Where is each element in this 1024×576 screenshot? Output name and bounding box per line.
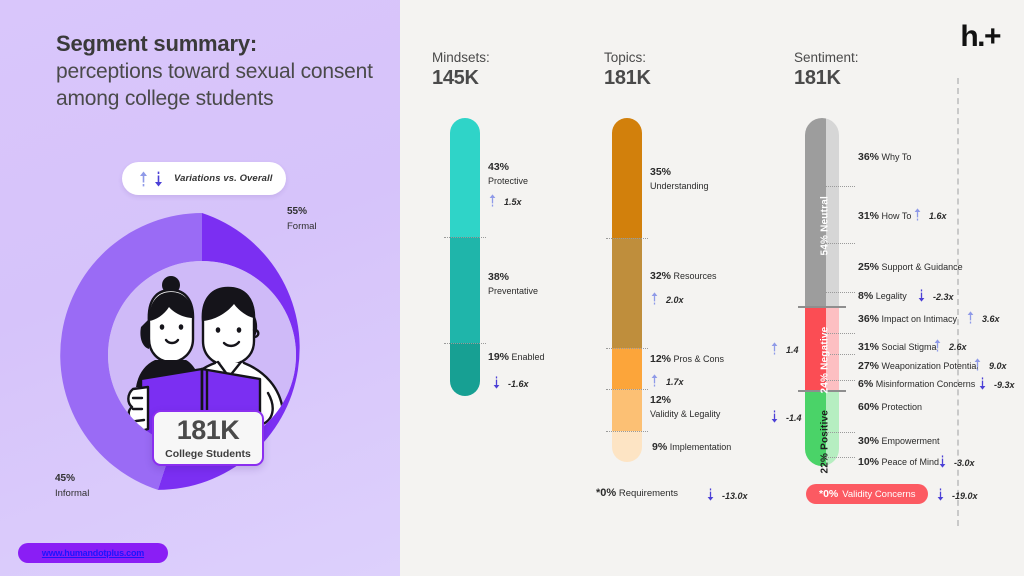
mindsets-tick-1 (444, 237, 486, 238)
sentiment-item-empowerment: 30% Empowerment (858, 434, 940, 449)
topics-delta-pros-cons: 1.7x (650, 373, 684, 391)
mindsets-stacked-bar (450, 118, 480, 396)
arrow-down-icon (706, 487, 717, 505)
mindsets-delta-enabled: -1.6x (492, 375, 529, 393)
topics-label-resources: 32% Resources (650, 269, 717, 284)
arrow-up-icon (650, 373, 661, 391)
arrow-up-icon (488, 193, 499, 211)
sentiment-item-peace-of-mind: 10% Peace of Mind (858, 455, 939, 470)
left-summary-panel: Segment summary: perceptions toward sexu… (0, 0, 400, 576)
sentiment-group-label-negative: 24% Negative (820, 304, 831, 394)
website-link-label: www.humandotplus.com (42, 548, 144, 558)
sentiment-item-legality: 8% Legality (858, 289, 907, 304)
sentiment-delta-impact-intimacy: 3.6x (966, 310, 1000, 328)
sentiment-delta-legality: -2.3x (917, 288, 954, 306)
bar-segment-enabled (450, 343, 480, 396)
kpi-label: College Students (165, 448, 251, 460)
donut-label-formal: 55% Formal (287, 205, 317, 233)
sentiment-delta-how-to: 1.6x (913, 207, 947, 225)
arrow-up-icon (933, 338, 944, 356)
website-link-button[interactable]: www.humandotplus.com (18, 543, 168, 563)
topics-tick-3 (606, 389, 648, 390)
variations-legend-label: Variations vs. Overall (174, 173, 272, 184)
arrow-down-icon (936, 487, 947, 505)
sentiment-item-impact-intimacy: 36% Impact on Intimacy (858, 312, 957, 327)
arrow-down-icon (978, 376, 989, 394)
sentiment-tick-n3 (825, 292, 855, 293)
bar-segment-resources (612, 238, 642, 348)
topics-footnote-requirements: *0% Requirements (596, 487, 678, 499)
title-block: Segment summary: perceptions toward sexu… (56, 30, 376, 113)
column-header-mindsets: Mindsets: 145K (432, 50, 490, 90)
mindsets-label-enabled: 19% Enabled (488, 350, 545, 365)
sentiment-group-label-neutral: 54% Neutral (820, 166, 831, 256)
topics-tick-4 (606, 431, 648, 432)
page-title: Segment summary: (56, 30, 376, 58)
arrow-up-icon (138, 170, 149, 188)
bar-segment-implementation (612, 431, 642, 462)
sentiment-delta-weaponization: 9.0x (973, 357, 1007, 375)
topics-delta-resources: 2.0x (650, 291, 684, 309)
arrow-up-icon (966, 310, 977, 328)
topics-stacked-bar (612, 118, 642, 462)
mindsets-label-protective: 43% Protective (488, 160, 528, 188)
topics-label-implementation: 9% Implementation (652, 440, 731, 455)
topics-label-understanding: 35% Understanding (650, 165, 709, 193)
kpi-badge: 181K College Students (152, 410, 264, 466)
sentiment-delta-social-stigma: 2.6x (933, 338, 967, 356)
bar-segment-validity-legality (612, 389, 642, 431)
sentiment-item-protection: 60% Protection (858, 400, 922, 415)
arrow-down-icon (938, 454, 949, 472)
bar-segment-pros-cons (612, 348, 642, 389)
column-header-topics: Topics: 181K (604, 50, 651, 90)
arrow-up-icon (973, 357, 984, 375)
bar-segment-protective (450, 118, 480, 237)
kpi-value: 181K (177, 417, 240, 444)
sentiment-delta-misinformation: -9.3x (978, 376, 1015, 394)
topics-tick-1 (606, 238, 648, 239)
sentiment-group-label-positive: 22% Positive (820, 384, 831, 474)
sentiment-delta-peace-of-mind: -3.0x (938, 454, 975, 472)
arrow-up-icon (650, 291, 661, 309)
sentiment-group-delta-positive: -1.4 (770, 409, 802, 427)
sentiment-item-support-guidance: 25% Support & Guidance (858, 260, 963, 275)
bar-segment-preventative (450, 237, 480, 343)
variations-legend-pill: Variations vs. Overall (122, 162, 286, 195)
topics-tick-2 (606, 348, 648, 349)
arrow-down-icon (153, 170, 164, 188)
metrics-panel: h.+ Mindsets: 145K Topics: 181K Sentimen… (400, 0, 1024, 576)
column-header-sentiment: Sentiment: 181K (794, 50, 859, 90)
page-subtitle: perceptions toward sexual consent among … (56, 58, 376, 114)
sentiment-group-delta-negative: 1.4 (770, 341, 799, 359)
bar-segment-understanding (612, 118, 642, 238)
sentiment-item-social-stigma: 31% Social Stigma (858, 340, 937, 355)
sentiment-footnote-delta: -19.0x (936, 487, 978, 505)
topics-footnote-delta: -13.0x (706, 487, 748, 505)
sentiment-footnote-validity-concerns: *0% Validity Concerns (806, 484, 928, 504)
brand-logo: h.+ (960, 22, 1000, 52)
sentiment-item-misinformation: 6% Misinformation Concerns (858, 377, 975, 392)
mindsets-delta-protective: 1.5x (488, 193, 522, 211)
mindsets-label-preventative: 38% Preventative (488, 270, 538, 298)
sentiment-item-why-to: 36% Why To (858, 150, 911, 165)
arrow-up-icon (913, 207, 924, 225)
arrow-down-icon (492, 375, 503, 393)
donut-label-informal: 45% Informal (55, 472, 89, 500)
arrow-down-icon (770, 409, 781, 427)
arrow-down-icon (917, 288, 928, 306)
mindsets-tick-2 (444, 343, 486, 344)
infographic-root: Segment summary: perceptions toward sexu… (0, 0, 1024, 576)
sentiment-item-how-to: 31% How To (858, 209, 911, 224)
sentiment-item-weaponization: 27% Weaponization Potential (858, 359, 978, 374)
arrow-up-icon (770, 341, 781, 359)
topics-label-pros-cons: 12% Pros & Cons (650, 352, 724, 367)
topics-label-validity-legality: 12% Validity & Legality (650, 393, 720, 421)
